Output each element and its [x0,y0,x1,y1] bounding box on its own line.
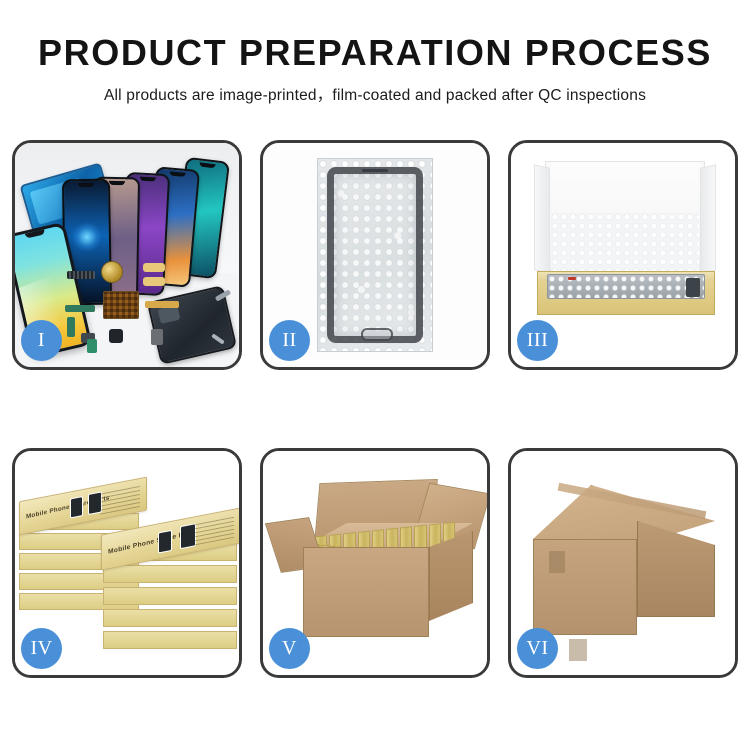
green-flex-icon [67,317,75,337]
stacked-box [103,587,237,605]
box-phone-graphic [70,496,83,519]
step-badge-2: II [269,320,310,361]
box-phone-graphic [158,530,172,554]
process-step-3: III [508,140,738,370]
connector-strip-icon [67,271,95,279]
camera-module-icon [109,329,123,343]
chip-grid-icon [103,291,139,319]
tape-tab-icon [569,639,587,661]
notch-icon [140,177,156,182]
notch-icon [169,172,185,177]
small-chip-icon [87,339,97,353]
stacked-box [103,609,237,627]
foam-insert [551,213,699,275]
step-badge-3: III [517,320,558,361]
product-preparation-infographic: PRODUCT PREPARATION PROCESS All products… [0,0,750,750]
box-spec-lines [100,485,140,515]
carton-body [303,547,429,637]
process-step-4: Mobile Phone Spare Parts Mobile Phone Sp… [12,448,242,678]
page-title: PRODUCT PREPARATION PROCESS [0,34,750,72]
process-step-2: II [260,140,490,370]
step-badge-5: V [269,628,310,669]
green-flex-icon [65,305,95,312]
flex-cable-icon [143,263,165,272]
process-step-6: VI [508,448,738,678]
process-step-1: I [12,140,242,370]
notch-icon [109,181,125,185]
copper-coil-icon [101,261,123,283]
screen-glass-panel [327,167,423,343]
step-badge-1: I [21,320,62,361]
stacked-box [103,565,237,583]
page-subtitle: All products are image-printed，film-coat… [0,83,750,105]
gold-flex-icon [145,301,179,308]
box-spec-lines [194,516,234,546]
stacked-box [103,631,237,649]
process-step-5: V [260,448,490,678]
notch-icon [78,183,94,187]
notch-icon [199,162,215,168]
battery-icon [151,329,163,345]
flex-cable-icon [143,277,165,286]
red-label-icon [568,277,576,280]
step-badge-4: IV [21,628,62,669]
process-step-grid: I II III [12,140,738,682]
wrapped-screen-in-tray [547,274,705,299]
header: PRODUCT PREPARATION PROCESS All products… [0,0,750,105]
tape-tab-icon [549,551,565,573]
step-badge-6: VI [517,628,558,669]
